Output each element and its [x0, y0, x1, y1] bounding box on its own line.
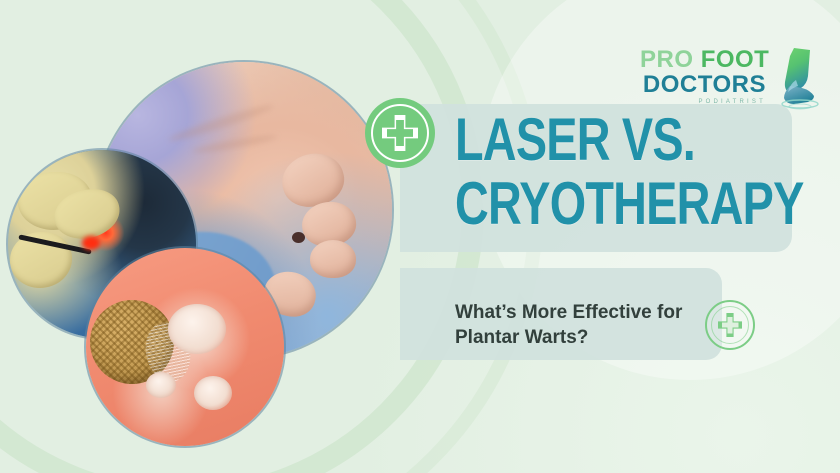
brand-word-foot: FOOT — [701, 46, 770, 73]
brand-word-doctors: DOCTORS — [640, 72, 766, 97]
brand-tagline: PODIATRIST — [640, 99, 766, 105]
headline-line-2: CRYOTHERAPY — [455, 172, 720, 236]
medical-cross-icon — [365, 98, 435, 168]
brand-word-pro: PRO — [640, 46, 694, 73]
brand-logo-text: PRO FOOT DOCTORS PODIATRIST — [640, 48, 766, 105]
brand-logo-line-1: PRO FOOT — [640, 48, 766, 72]
plantar-wart-closeup-photo — [86, 248, 284, 446]
headline-line-1: LASER VS. — [455, 108, 720, 172]
subheadline: What’s More Effective for Plantar Warts? — [455, 300, 705, 350]
medical-cross-icon-secondary — [705, 300, 755, 350]
foot-leg-logo-mark — [774, 46, 826, 112]
photo-collage — [0, 40, 440, 470]
banner: PRO FOOT DOCTORS PODIATRIST — [0, 0, 840, 473]
headline: LASER VS. CRYOTHERAPY — [455, 108, 795, 236]
brand-logo[interactable]: PRO FOOT DOCTORS PODIATRIST — [640, 48, 825, 110]
